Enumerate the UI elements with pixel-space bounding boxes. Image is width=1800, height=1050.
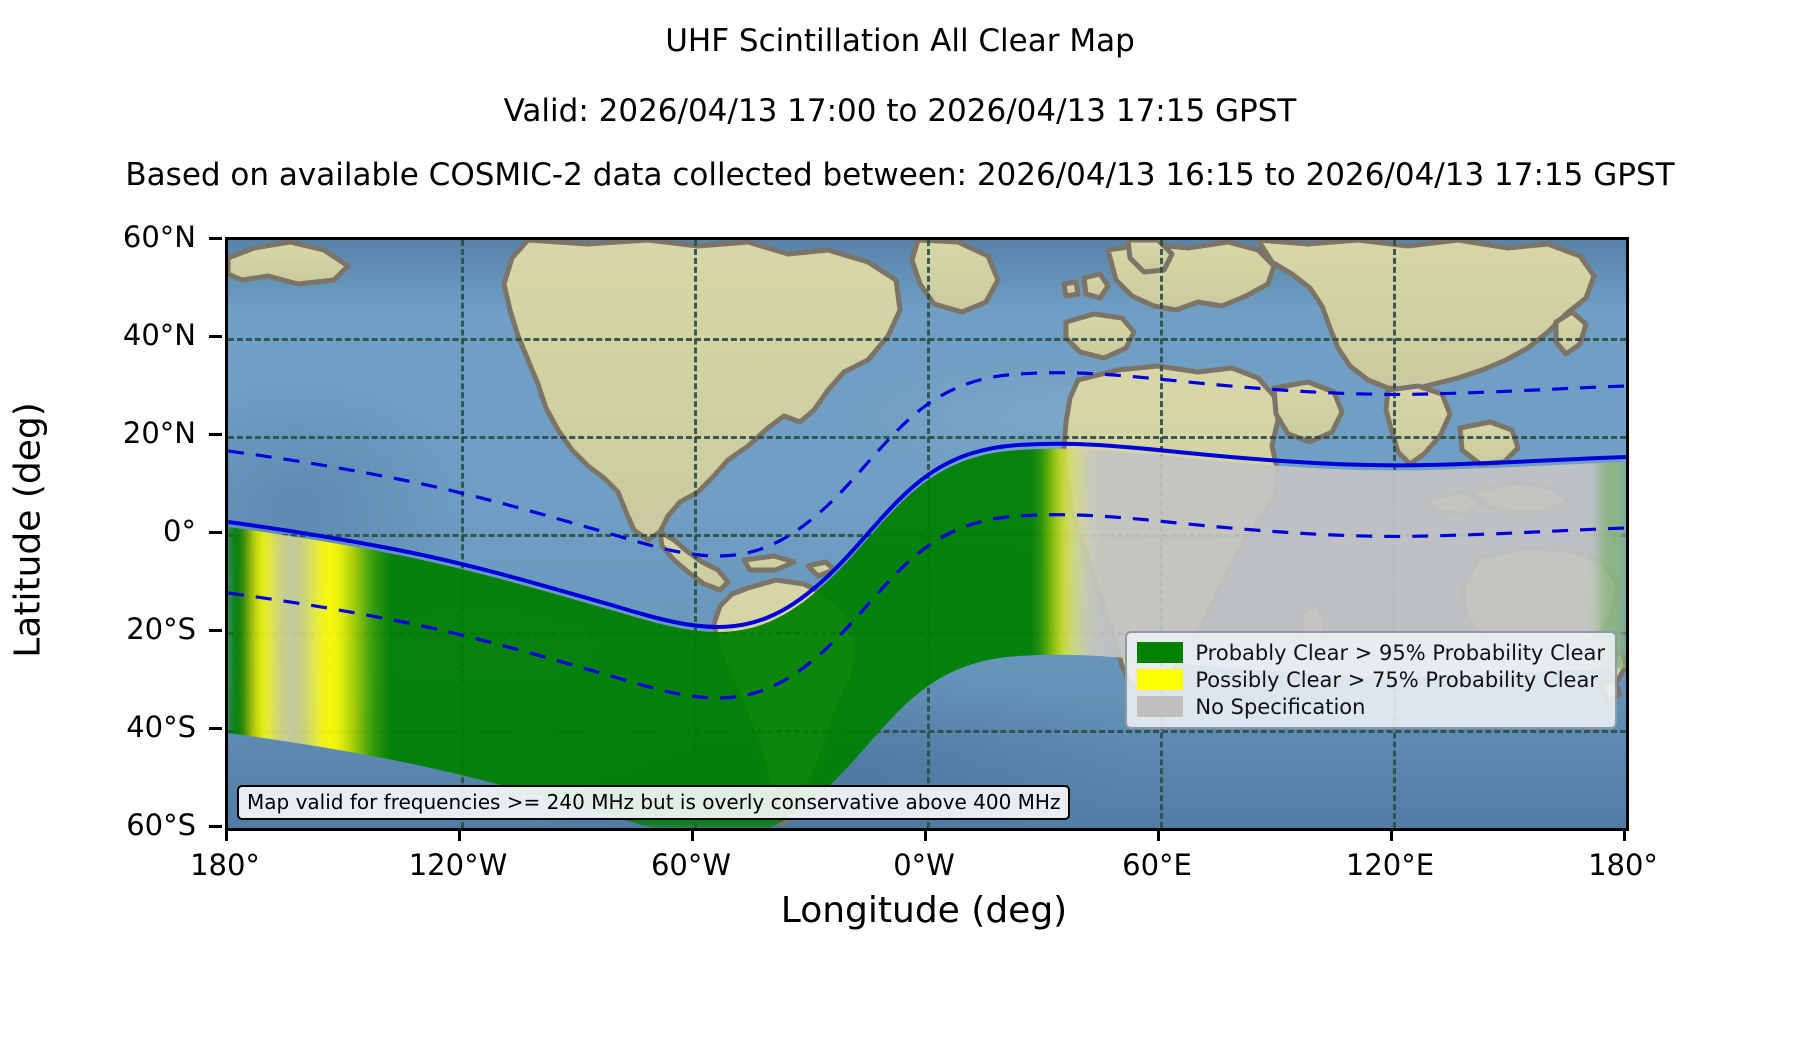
legend-label: No Specification — [1195, 695, 1365, 719]
y-tick-label: 20°N — [86, 416, 196, 450]
validity-subtitle: Valid: 2026/04/13 17:00 to 2026/04/13 17… — [0, 96, 1800, 127]
map-plot-area[interactable]: Probably Clear > 95% Probability Clear P… — [225, 237, 1629, 831]
page-title: UHF Scintillation All Clear Map — [0, 26, 1800, 57]
x-tick-label: 180° — [190, 848, 260, 882]
y-tick-label: 0° — [86, 514, 196, 548]
legend-item: No Specification — [1137, 693, 1605, 720]
landmass-layer — [228, 240, 1626, 828]
legend[interactable]: Probably Clear > 95% Probability Clear P… — [1125, 631, 1617, 729]
y-tick — [209, 727, 222, 730]
y-tick-label: 40°N — [86, 318, 196, 352]
legend-swatch-possibly-clear — [1137, 669, 1183, 690]
y-tick — [209, 433, 222, 436]
y-tick — [209, 237, 222, 240]
frequency-validity-note: Map valid for frequencies >= 240 MHz but… — [237, 785, 1070, 820]
x-axis-label: Longitude (deg) — [781, 890, 1067, 931]
legend-item: Probably Clear > 95% Probability Clear — [1137, 639, 1605, 666]
x-tick-label: 120°E — [1346, 848, 1434, 882]
x-tick-label: 60°W — [651, 848, 731, 882]
legend-label: Probably Clear > 95% Probability Clear — [1195, 641, 1605, 665]
y-tick — [209, 335, 222, 338]
data-source-subtitle: Based on available COSMIC-2 data collect… — [0, 160, 1800, 191]
legend-label: Possibly Clear > 75% Probability Clear — [1195, 668, 1598, 692]
legend-item: Possibly Clear > 75% Probability Clear — [1137, 666, 1605, 693]
y-tick-label: 60°N — [86, 220, 196, 254]
y-tick — [209, 629, 222, 632]
y-tick-label: 40°S — [86, 710, 196, 744]
x-tick-label: 0°W — [893, 848, 955, 882]
figure-root: UHF Scintillation All Clear Map Valid: 2… — [0, 0, 1800, 1050]
y-tick — [209, 825, 222, 828]
x-tick-label: 180° — [1588, 848, 1658, 882]
x-tick-label: 60°E — [1122, 848, 1192, 882]
y-tick-label: 20°S — [86, 612, 196, 646]
x-tick-label: 120°W — [409, 848, 508, 882]
y-tick-label: 60°S — [86, 808, 196, 842]
y-axis-label: Latitude (deg) — [8, 402, 49, 658]
legend-swatch-no-specification — [1137, 696, 1183, 717]
y-tick — [209, 531, 222, 534]
legend-swatch-probably-clear — [1137, 642, 1183, 663]
